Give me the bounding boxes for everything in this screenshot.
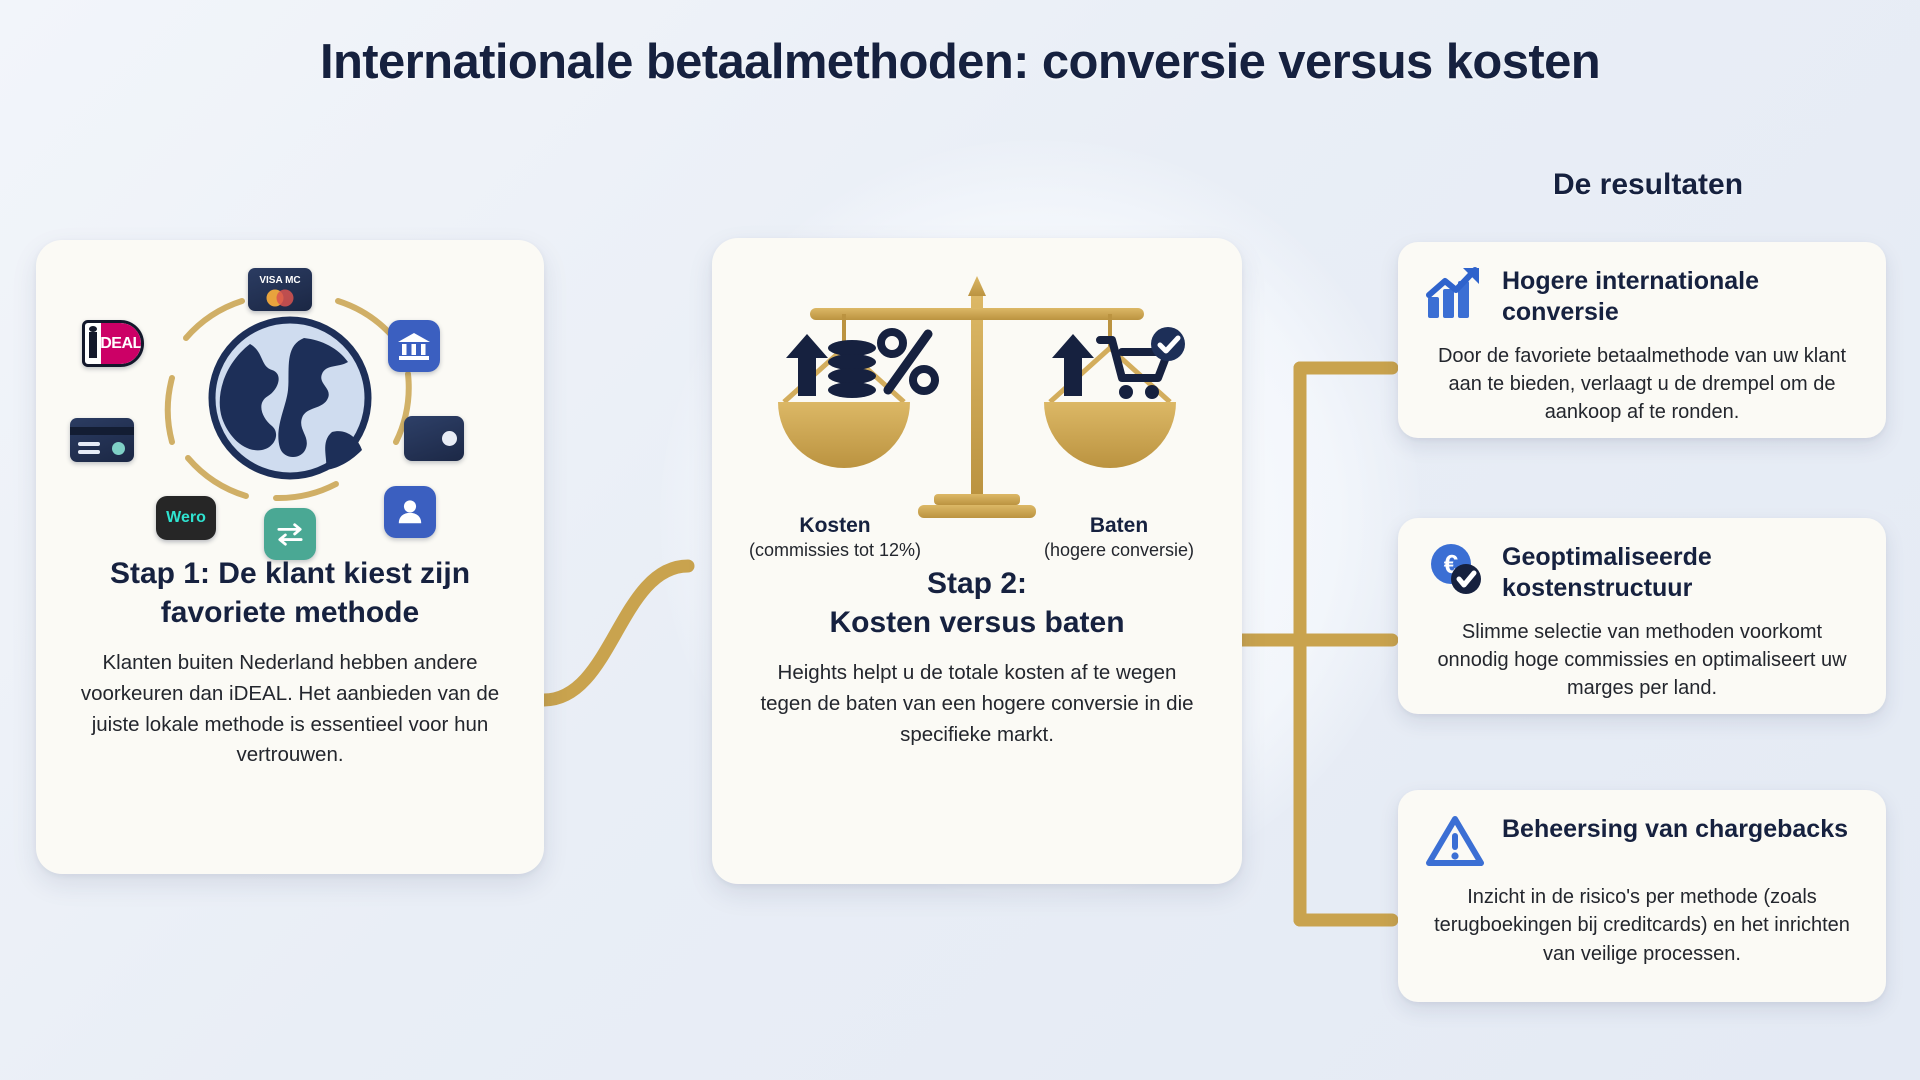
result-body-1: Slimme selectie van methoden voorkomt on… [1424,618,1860,703]
result-card-conversie: Hogere internationale conversie Door de … [1398,242,1886,438]
benefit-pan-label: Baten (hogere conversie) [1004,514,1234,561]
step-2-body: Heights helpt u de totale kosten af te w… [712,642,1242,750]
step-2-heading-line1: Stap 2: [927,567,1027,600]
cost-pan-icons [786,332,935,398]
bancontact-icon [384,486,436,538]
result-title-2: Beheersing van chargebacks [1502,812,1848,845]
benefit-pan-icons [1052,327,1185,399]
result-card-chargebacks: Beheersing van chargebacks Inzicht in de… [1398,790,1886,1002]
warning-triangle-icon [1424,812,1486,870]
cost-pan-subtitle: (commissies tot 12%) [720,540,950,561]
result-title-0: Hogere internationale conversie [1502,264,1860,329]
result-title-1: Geoptimaliseerde kostenstructuur [1502,540,1860,605]
step-card-2: Kosten (commissies tot 12%) Baten (hoger… [712,238,1242,884]
step-2-heading-line2: Kosten versus baten [829,606,1124,639]
growth-chart-arrow-icon [1424,264,1486,322]
step-card-1: DEAL VISA MC [36,240,544,874]
wallet-icon [404,416,464,461]
result-card-kostenstructuur: € Geoptimaliseerde kostenstructuur Slimm… [1398,518,1886,714]
wero-label: Wero [156,496,216,540]
page-title: Internationale betaalmethoden: conversie… [0,34,1920,90]
bank-building-icon [388,320,440,372]
benefit-pan-subtitle: (hogere conversie) [1004,540,1234,561]
sepa-transfer-icon [264,508,316,560]
visa-mastercard-card-icon: VISA MC [248,268,312,311]
step-1-heading: Stap 1: De klant kiest zijn favoriete me… [36,554,544,632]
infographic-canvas: Internationale betaalmethoden: conversie… [0,0,1920,1080]
ideal-label: DEAL [101,323,141,364]
globe-icon [212,320,368,476]
balance-scale-icon [712,252,1242,552]
benefit-pan-title: Baten [1004,514,1234,538]
step-1-body: Klanten buiten Nederland hebben andere v… [36,632,544,771]
wero-logo-icon: Wero [156,496,216,540]
credit-card-icon [70,418,134,462]
payment-methods-globe-art: DEAL VISA MC [36,246,544,546]
results-title: De resultaten [1398,168,1898,202]
result-body-0: Door de favoriete betaalmethode van uw k… [1424,342,1860,427]
step-2-heading: Stap 2: Kosten versus baten [712,564,1242,642]
cost-pan-label: Kosten (commissies tot 12%) [720,514,950,561]
svg-text:VISA MC: VISA MC [259,275,300,286]
ideal-logo-icon: DEAL [82,320,144,367]
cost-benefit-scale-art: Kosten (commissies tot 12%) Baten (hoger… [712,252,1242,552]
result-body-2: Inzicht in de risico's per methode (zoal… [1424,883,1860,968]
euro-coin-check-icon: € [1424,540,1486,598]
cost-pan-title: Kosten [720,514,950,538]
